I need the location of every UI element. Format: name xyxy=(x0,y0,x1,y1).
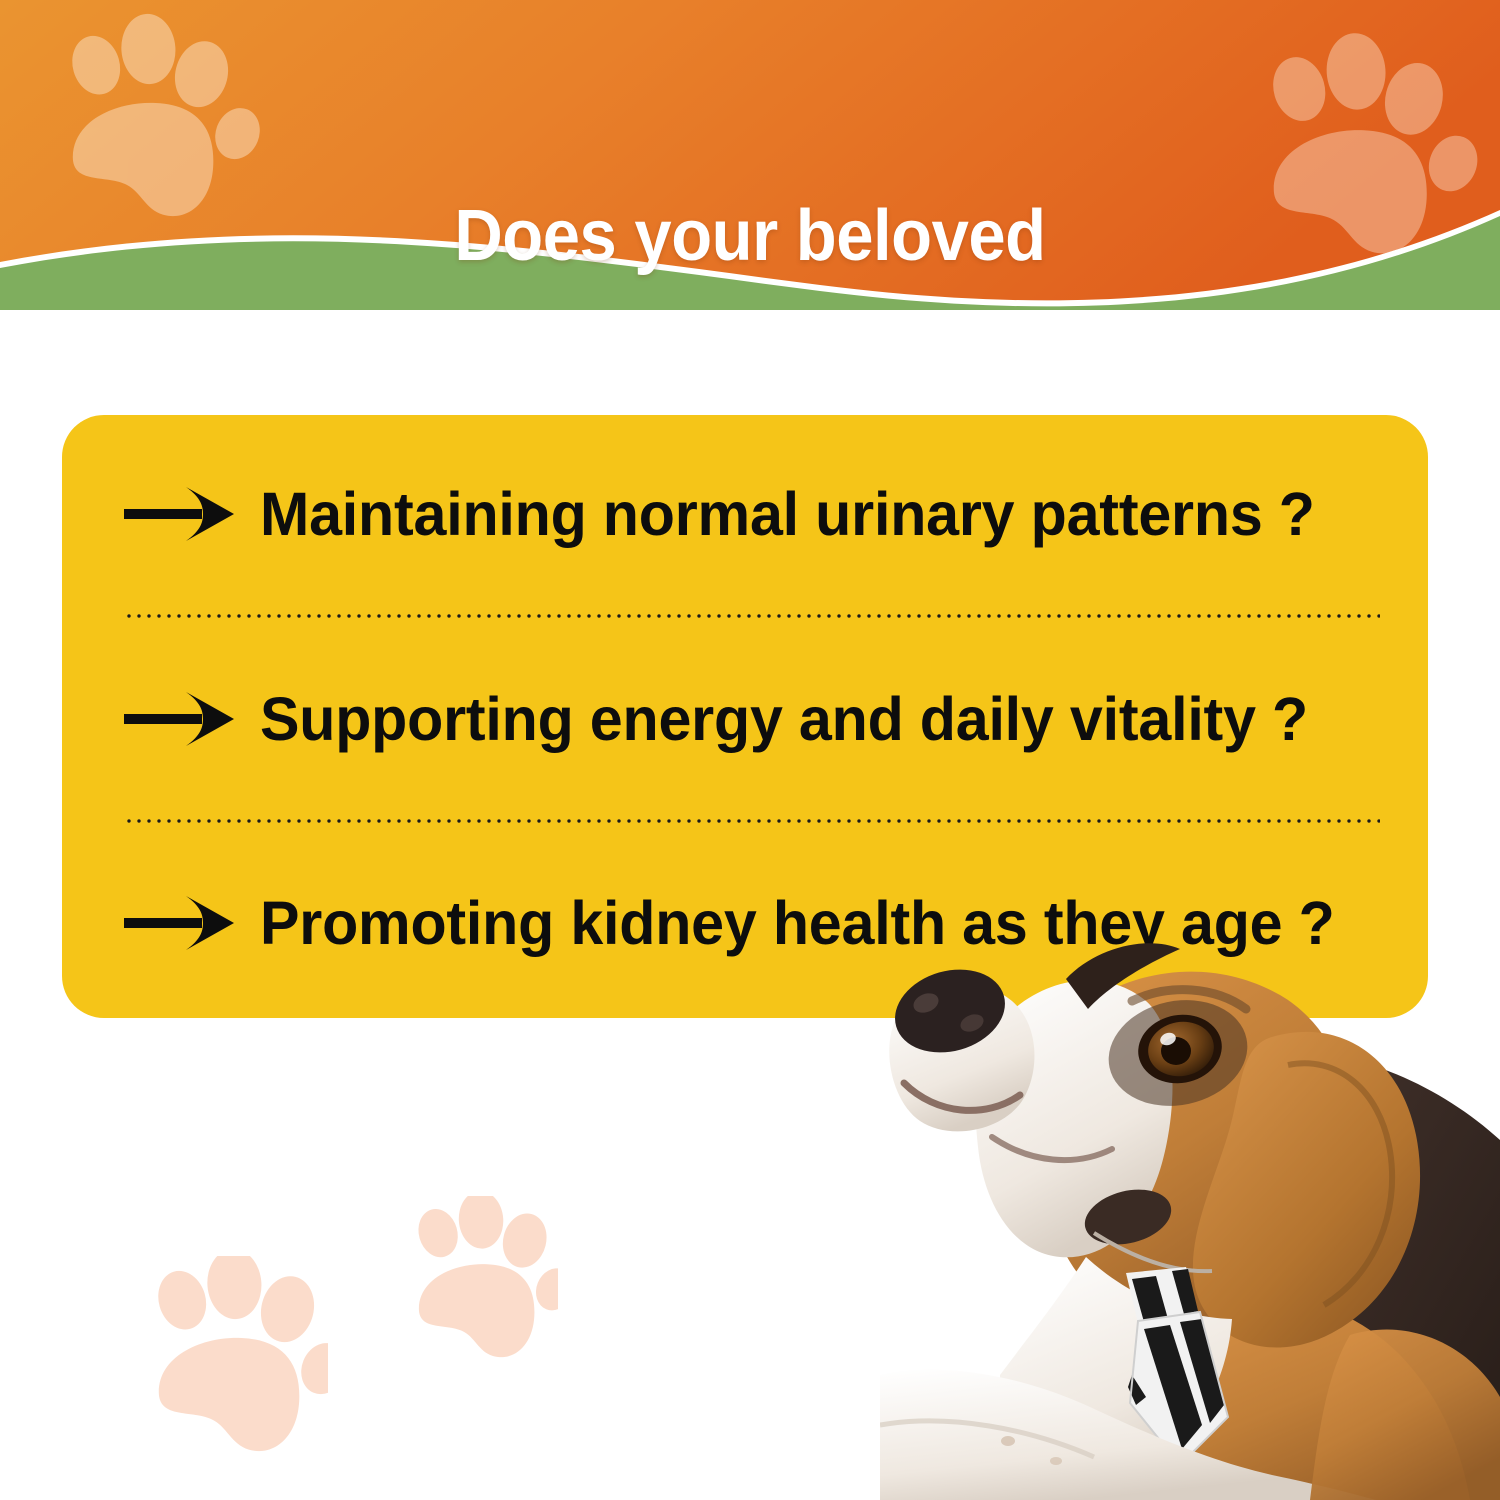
dog-leg-speck xyxy=(1050,1457,1062,1465)
benefit-label: Maintaining normal urinary patterns ? xyxy=(260,482,1315,546)
dog-leg-speck xyxy=(1001,1436,1015,1446)
benefit-item: Supporting energy and daily vitality ? xyxy=(62,624,1428,814)
paw-print-icon xyxy=(148,1256,328,1456)
header-banner: Does your beloved pet need extra support… xyxy=(0,0,1500,310)
dotted-divider xyxy=(124,614,1380,618)
promo-poster: Does your beloved pet need extra support… xyxy=(0,0,1500,1500)
benefit-label: Supporting energy and daily vitality ? xyxy=(260,687,1308,751)
beagle-illustration xyxy=(880,905,1500,1500)
dog-photo xyxy=(880,905,1500,1500)
right-arrow-icon xyxy=(124,485,236,543)
right-arrow-icon xyxy=(124,690,236,748)
right-arrow-icon xyxy=(124,894,236,952)
title-line-1: Does your beloved xyxy=(53,190,1448,282)
dotted-divider xyxy=(124,819,1380,823)
page-title: Does your beloved pet need extra support… xyxy=(53,6,1448,310)
paw-print-icon xyxy=(410,1196,558,1362)
benefit-item: Maintaining normal urinary patterns ? xyxy=(62,419,1428,609)
